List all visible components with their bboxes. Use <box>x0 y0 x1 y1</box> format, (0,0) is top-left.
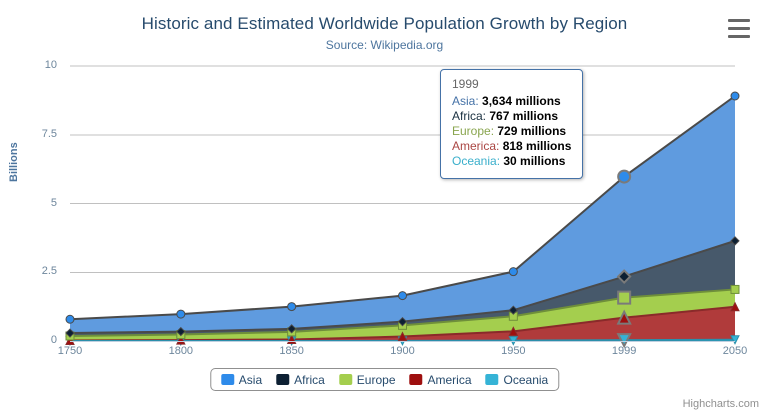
legend-label: America <box>428 373 472 387</box>
tooltip-series-name: Asia: <box>452 94 482 108</box>
legend-item-africa[interactable]: Africa <box>276 373 325 387</box>
marker-asia-1999[interactable] <box>618 171 630 183</box>
legend-item-oceania[interactable]: Oceania <box>486 373 549 387</box>
tooltip-series-value: 30 millions <box>503 154 565 168</box>
legend-item-asia[interactable]: Asia <box>221 373 262 387</box>
x-axis-tick-1900: 1900 <box>373 345 433 357</box>
marker-europe-2050[interactable] <box>731 285 739 293</box>
tooltip-series-value: 729 millions <box>497 124 566 138</box>
legend-swatch-icon-oceania <box>486 374 499 385</box>
legend-label: Asia <box>239 373 262 387</box>
marker-asia-2050[interactable] <box>731 92 739 100</box>
legend-label: Africa <box>294 373 325 387</box>
x-axis-tick-1750: 1750 <box>40 345 100 357</box>
marker-asia-1800[interactable] <box>177 310 185 318</box>
marker-asia-1850[interactable] <box>288 303 296 311</box>
tooltip-series-value: 3,634 millions <box>482 94 561 108</box>
tooltip-row-africa: Africa: 767 millions <box>452 109 571 124</box>
legend-swatch-icon-america <box>410 374 423 385</box>
legend-label: Europe <box>357 373 396 387</box>
credits-label[interactable]: Highcharts.com <box>683 398 759 410</box>
y-axis-tick-2.5: 2.5 <box>17 265 57 277</box>
x-axis-tick-1850: 1850 <box>262 345 322 357</box>
tooltip-series-name: America: <box>452 139 503 153</box>
x-axis-tick-1950: 1950 <box>483 345 543 357</box>
marker-europe-1999[interactable] <box>618 292 630 304</box>
tooltip-header: 1999 <box>452 77 571 91</box>
chart-tooltip: 1999 Asia: 3,634 millionsAfrica: 767 mil… <box>440 69 583 179</box>
tooltip-row-europe: Europe: 729 millions <box>452 124 571 139</box>
tooltip-rows: Asia: 3,634 millionsAfrica: 767 millions… <box>452 94 571 169</box>
y-axis-tick-7.5: 7.5 <box>17 128 57 140</box>
legend-label: Oceania <box>504 373 549 387</box>
marker-asia-1750[interactable] <box>66 315 74 323</box>
tooltip-row-america: America: 818 millions <box>452 139 571 154</box>
tooltip-series-name: Oceania: <box>452 154 503 168</box>
legend-swatch-icon-africa <box>276 374 289 385</box>
legend-item-europe[interactable]: Europe <box>339 373 396 387</box>
tooltip-row-oceania: Oceania: 30 millions <box>452 154 571 169</box>
tooltip-series-value: 818 millions <box>503 139 572 153</box>
x-axis-tick-1800: 1800 <box>151 345 211 357</box>
x-axis-tick-2050: 2050 <box>705 345 765 357</box>
highcharts-container: Historic and Estimated Worldwide Populat… <box>0 0 769 416</box>
tooltip-series-value: 767 millions <box>489 109 558 123</box>
tooltip-series-name: Africa: <box>452 109 489 123</box>
series-areas <box>70 96 735 341</box>
marker-asia-1950[interactable] <box>509 268 517 276</box>
legend-item-america[interactable]: America <box>410 373 472 387</box>
tooltip-row-asia: Asia: 3,634 millions <box>452 94 571 109</box>
legend-swatch-icon-asia <box>221 374 234 385</box>
y-axis-tick-5: 5 <box>17 197 57 209</box>
y-axis-tick-10: 10 <box>17 59 57 71</box>
marker-asia-1900[interactable] <box>399 292 407 300</box>
legend-swatch-icon-europe <box>339 374 352 385</box>
tooltip-series-name: Europe: <box>452 124 497 138</box>
x-axis-tick-1999: 1999 <box>594 345 654 357</box>
chart-legend: AsiaAfricaEuropeAmericaOceania <box>210 368 559 391</box>
